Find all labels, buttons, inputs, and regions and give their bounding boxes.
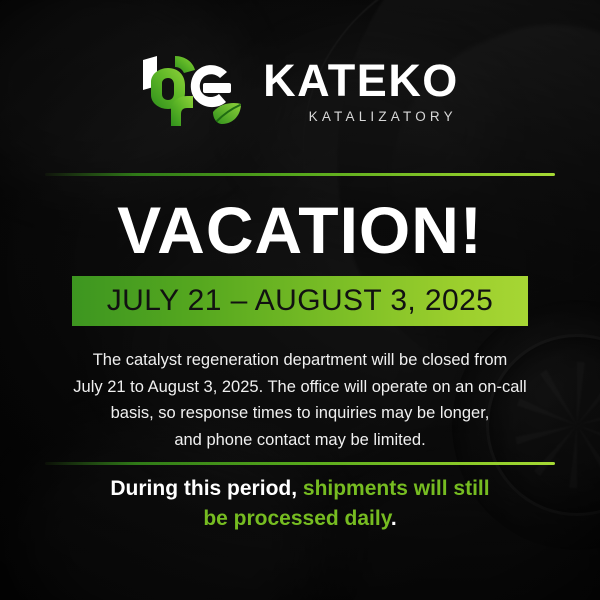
brand-name: KATEKO bbox=[263, 58, 459, 103]
vacation-announcement-poster: KATEKO KATALIZATORY VACATION! JULY 21 – … bbox=[0, 0, 600, 600]
brand-subtitle: KATALIZATORY bbox=[309, 110, 459, 124]
footer-highlight-line-1: shipments will still bbox=[303, 477, 490, 500]
footer-lead-text: During this period, bbox=[110, 477, 303, 500]
page-title: VACATION! bbox=[0, 196, 600, 265]
date-range-banner: JULY 21 – AUGUST 3, 2025 bbox=[72, 276, 528, 326]
kateko-ke-monogram-leaf-icon bbox=[141, 52, 245, 130]
footer-note: During this period, shipments will still… bbox=[60, 474, 540, 534]
poster-content: KATEKO KATALIZATORY VACATION! JULY 21 – … bbox=[0, 0, 600, 600]
footer-highlight-line-2: be processed daily bbox=[203, 507, 391, 530]
divider-top bbox=[45, 173, 555, 176]
body-line-1: The catalyst regeneration department wil… bbox=[40, 347, 560, 374]
date-range-text: JULY 21 – AUGUST 3, 2025 bbox=[107, 284, 494, 318]
body-paragraph: The catalyst regeneration department wil… bbox=[40, 347, 560, 454]
brand-wordmark: KATEKO KATALIZATORY bbox=[263, 58, 459, 124]
body-line-2: July 21 to August 3, 2025. The office wi… bbox=[40, 374, 560, 401]
body-line-3: basis, so response times to inquiries ma… bbox=[40, 400, 560, 427]
divider-bottom bbox=[45, 462, 555, 465]
body-line-4: and phone contact may be limited. bbox=[40, 427, 560, 454]
footer-tail-text: . bbox=[391, 507, 397, 530]
brand-logo: KATEKO KATALIZATORY bbox=[0, 52, 600, 130]
